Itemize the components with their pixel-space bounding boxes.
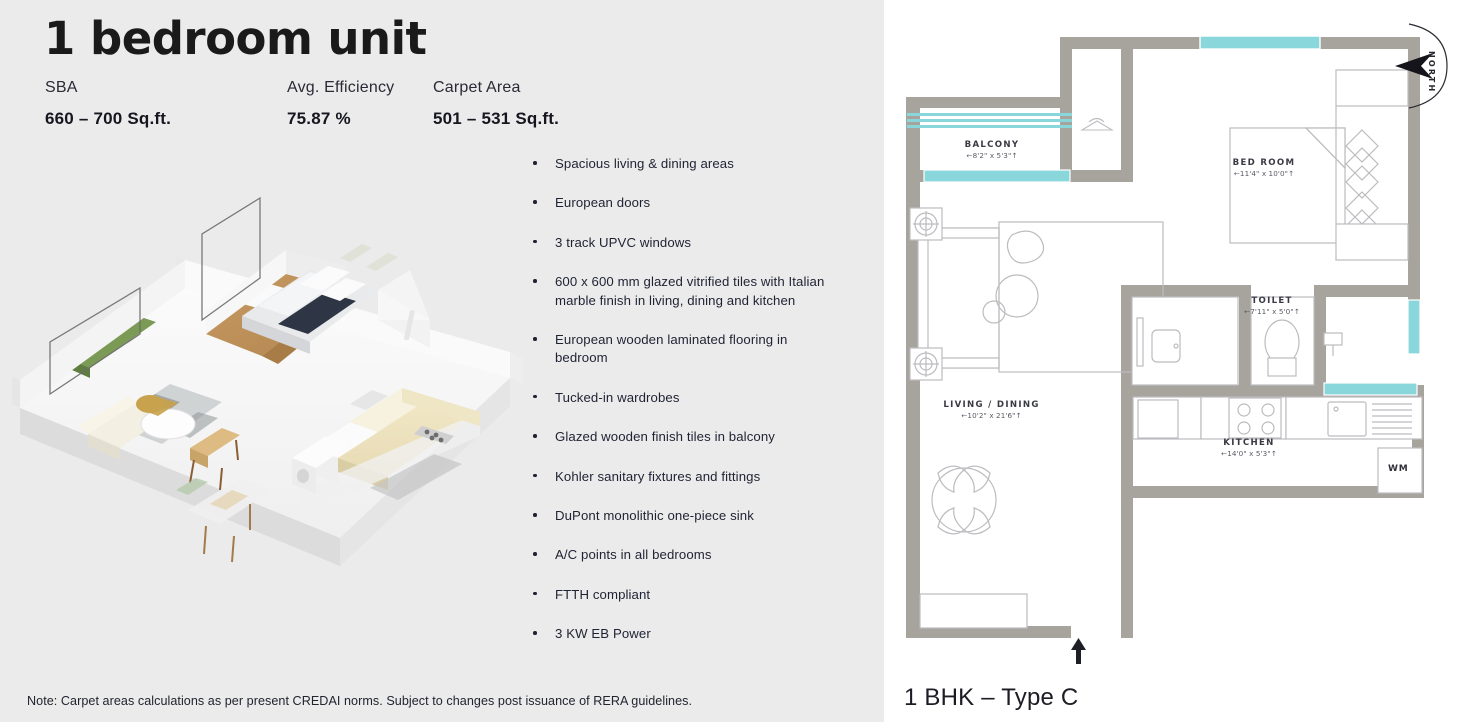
bullet-icon bbox=[533, 631, 537, 635]
window-toilet-east bbox=[1408, 300, 1420, 354]
floorplan-caption: 1 BHK – Type C bbox=[904, 684, 1078, 712]
feature-text: European doors bbox=[555, 195, 650, 210]
bullet-icon bbox=[533, 474, 537, 478]
appliance-label-wm: WM bbox=[1388, 464, 1408, 474]
north-indicator: NORTH bbox=[1389, 18, 1467, 114]
toilet-accessory bbox=[1324, 333, 1342, 356]
ceiling-fixture-upper bbox=[910, 208, 942, 240]
bullet-icon bbox=[533, 279, 537, 283]
stat-carpet-area-value: 501 – 531 Sq.ft. bbox=[433, 109, 559, 129]
stat-carpet-area: Carpet Area 501 – 531 Sq.ft. bbox=[433, 78, 559, 129]
bullet-icon bbox=[533, 552, 537, 556]
unit-info-panel: 1 bedroom unit SBA 660 – 700 Sq.ft. Avg.… bbox=[0, 0, 884, 722]
feature-text: Kohler sanitary fixtures and fittings bbox=[555, 469, 760, 484]
stat-sba: SBA 660 – 700 Sq.ft. bbox=[45, 78, 171, 129]
list-item: DuPont monolithic one-piece sink bbox=[528, 507, 828, 525]
page-title: 1 bedroom unit bbox=[44, 12, 427, 65]
list-item: 600 x 600 mm glazed vitrified tiles with… bbox=[528, 273, 828, 310]
feature-text: A/C points in all bedrooms bbox=[555, 547, 712, 562]
window-bedroom-north bbox=[1200, 36, 1320, 49]
shower-panel bbox=[1137, 318, 1143, 366]
feature-text: Spacious living & dining areas bbox=[555, 156, 734, 171]
bullet-icon bbox=[533, 161, 537, 165]
stat-sba-value: 660 – 700 Sq.ft. bbox=[45, 109, 171, 129]
stat-efficiency-value: 75.87 % bbox=[287, 109, 394, 129]
bullet-icon bbox=[533, 434, 537, 438]
entry-arrow bbox=[1071, 638, 1086, 664]
bullet-icon bbox=[533, 592, 537, 596]
wash-basin bbox=[1152, 330, 1180, 362]
bullet-icon bbox=[533, 337, 537, 341]
list-item: A/C points in all bedrooms bbox=[528, 546, 828, 564]
feature-text: 600 x 600 mm glazed vitrified tiles with… bbox=[555, 274, 824, 307]
feature-text: 3 track UPVC windows bbox=[555, 235, 691, 250]
list-item: Spacious living & dining areas bbox=[528, 155, 828, 173]
hanger-icon bbox=[1082, 119, 1112, 131]
list-item: European doors bbox=[528, 194, 828, 212]
stat-efficiency-label: Avg. Efficiency bbox=[287, 78, 394, 98]
isometric-render-svg bbox=[10, 138, 530, 568]
list-item: Tucked-in wardrobes bbox=[528, 389, 828, 407]
list-item: FTTH compliant bbox=[528, 586, 828, 604]
dining-table bbox=[932, 468, 996, 532]
feature-list: Spacious living & dining areas European … bbox=[528, 155, 828, 665]
bullet-icon bbox=[533, 200, 537, 204]
list-item: 3 track UPVC windows bbox=[528, 234, 828, 252]
list-item: European wooden laminated flooring in be… bbox=[528, 331, 828, 368]
isometric-unit-render bbox=[10, 138, 530, 568]
bullet-icon bbox=[533, 395, 537, 399]
bullet-icon bbox=[533, 513, 537, 517]
feature-text: DuPont monolithic one-piece sink bbox=[555, 508, 754, 523]
feature-text: European wooden laminated flooring in be… bbox=[555, 332, 787, 365]
list-item: Glazed wooden finish tiles in balcony bbox=[528, 428, 828, 446]
feature-text: FTTH compliant bbox=[555, 587, 650, 602]
stat-efficiency: Avg. Efficiency 75.87 % bbox=[287, 78, 394, 129]
floorplan-drawing: BALCONY ←8'2" x 5'3"↑ BED ROOM ←11'4" x … bbox=[884, 0, 1473, 678]
furniture-linework bbox=[910, 70, 1422, 628]
window-balcony-west bbox=[907, 113, 1072, 128]
bullet-icon bbox=[533, 240, 537, 244]
disclaimer-note: Note: Carpet areas calculations as per p… bbox=[27, 694, 692, 708]
brochure-page: 1 bedroom unit SBA 660 – 700 Sq.ft. Avg.… bbox=[0, 0, 1473, 722]
floorplan-panel: BALCONY ←8'2" x 5'3"↑ BED ROOM ←11'4" x … bbox=[884, 0, 1473, 722]
floorplan-svg bbox=[884, 0, 1473, 678]
list-item: 3 KW EB Power bbox=[528, 625, 828, 643]
window-balcony-south bbox=[924, 170, 1070, 182]
window-kitchen bbox=[1324, 383, 1417, 395]
list-item: Kohler sanitary fixtures and fittings bbox=[528, 468, 828, 486]
ceiling-fixture-lower bbox=[910, 348, 942, 380]
feature-text: Tucked-in wardrobes bbox=[555, 390, 680, 405]
feature-text: 3 KW EB Power bbox=[555, 626, 651, 641]
stat-carpet-area-label: Carpet Area bbox=[433, 78, 559, 98]
feature-text: Glazed wooden finish tiles in balcony bbox=[555, 429, 775, 444]
north-label: NORTH bbox=[1427, 51, 1436, 93]
stat-sba-label: SBA bbox=[45, 78, 171, 98]
